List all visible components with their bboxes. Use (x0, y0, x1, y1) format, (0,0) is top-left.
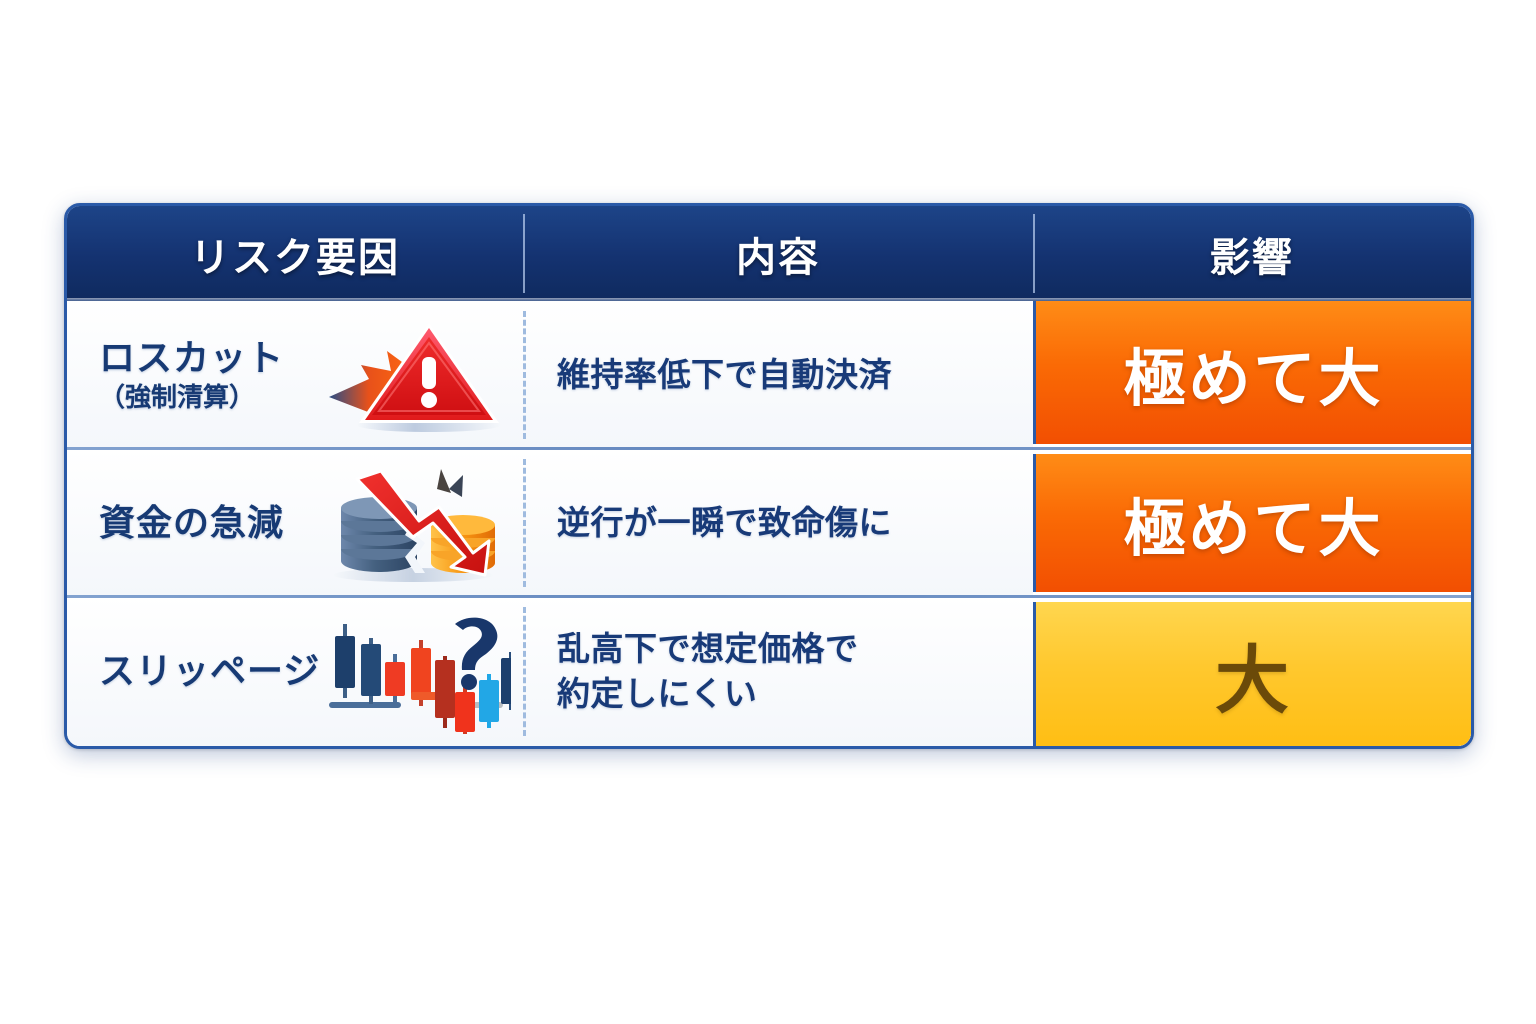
table-row: 資金の急減 (67, 449, 1471, 597)
table-row: スリッページ (67, 597, 1471, 746)
table-body: ロスカット （強制清算） (67, 301, 1471, 746)
candlestick-question-icon (321, 610, 511, 734)
content-text: 維持率低下で自動決済 (557, 353, 892, 398)
column-header-content: 内容 (523, 206, 1033, 301)
risk-factor-subtitle: （強制清算） (99, 383, 284, 412)
risk-factor-title: 資金の急減 (99, 503, 284, 543)
impact-label: 極めて大 (1123, 328, 1383, 418)
risk-factor-title: スリッページ (99, 651, 320, 691)
canvas: リスク要因 内容 影響 ロスカット （強制清算） (0, 0, 1536, 1024)
column-header-content-label: 内容 (736, 225, 820, 283)
table-row: ロスカット （強制清算） (67, 301, 1471, 449)
risk-factor-label: スリッページ (99, 651, 320, 691)
content-text: 乱高下で想定価格で 約定しにくい (557, 627, 859, 716)
cell-impact: 大 (1033, 597, 1471, 746)
header-divider-2 (1033, 214, 1035, 293)
cell-content: 維持率低下で自動決済 (523, 301, 1033, 449)
coins-down-arrow-icon (321, 461, 511, 585)
impact-label: 極めて大 (1123, 478, 1383, 568)
risk-factor-label: 資金の急減 (99, 503, 284, 543)
impact-badge: 極めて大 (1033, 454, 1471, 592)
header-divider-1 (523, 214, 525, 293)
risk-factor-title: ロスカット (99, 338, 284, 378)
column-separator-dashed (523, 459, 526, 587)
impact-badge: 極めて大 (1033, 301, 1471, 444)
content-line-1: 逆行が一瞬で致命傷に (557, 504, 892, 541)
cell-risk-factor: ロスカット （強制清算） (67, 301, 523, 449)
table-header-row: リスク要因 内容 影響 (67, 206, 1471, 301)
risk-table: リスク要因 内容 影響 ロスカット （強制清算） (64, 203, 1474, 749)
cell-risk-factor: 資金の急減 (67, 449, 523, 597)
column-separator-dashed (523, 311, 526, 439)
cell-impact: 極めて大 (1033, 449, 1471, 597)
column-separator-dashed (523, 607, 526, 736)
column-header-impact: 影響 (1033, 206, 1471, 301)
content-line-1: 乱高下で想定価格で (557, 627, 859, 672)
column-header-risk-factor-label: リスク要因 (190, 225, 400, 283)
content-line-2: 約定しにくい (557, 672, 859, 717)
cell-content: 逆行が一瞬で致命傷に (523, 449, 1033, 597)
impact-badge: 大 (1033, 602, 1471, 746)
cell-impact: 極めて大 (1033, 301, 1471, 449)
column-header-impact-label: 影響 (1210, 225, 1294, 283)
cell-content: 乱高下で想定価格で 約定しにくい (523, 597, 1033, 746)
warning-triangle-icon (321, 313, 511, 437)
risk-factor-label: ロスカット （強制清算） (99, 338, 284, 411)
cell-risk-factor: スリッページ (67, 597, 523, 746)
impact-label: 大 (1215, 621, 1292, 728)
column-header-risk-factor: リスク要因 (67, 206, 523, 301)
content-line-1: 維持率低下で自動決済 (557, 356, 892, 393)
content-text: 逆行が一瞬で致命傷に (557, 501, 892, 546)
